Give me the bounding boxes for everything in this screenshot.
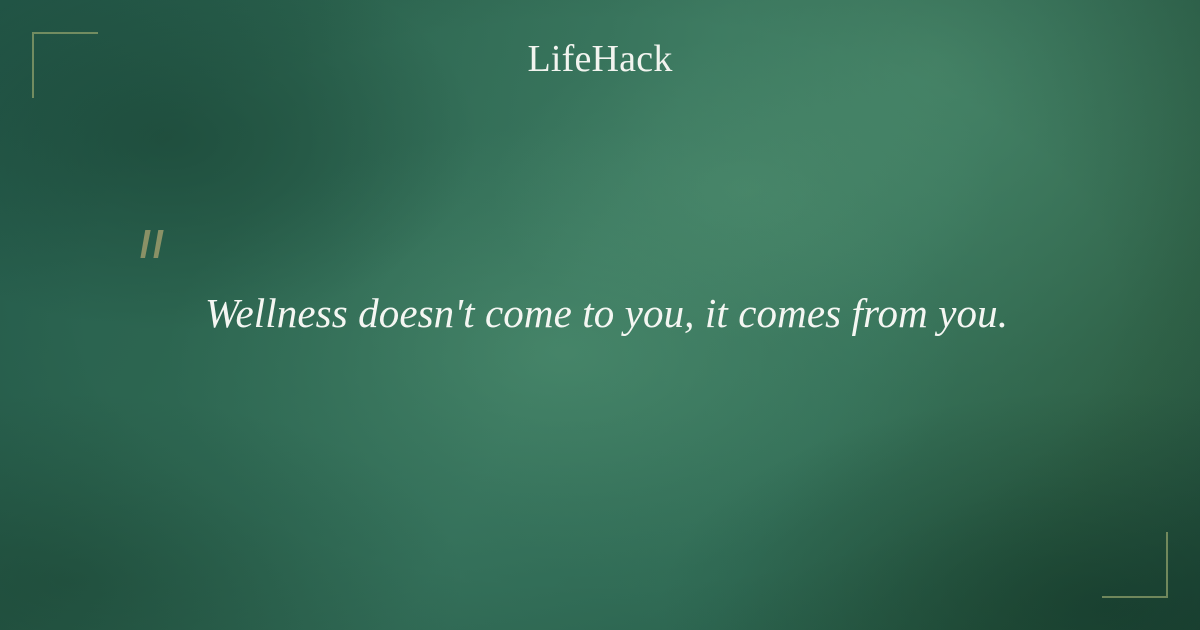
quote-text: Wellness doesn't come to you, it comes f…	[205, 288, 1065, 339]
lifehack-logo: LifeHack	[0, 40, 1200, 80]
quote-mark-icon	[136, 224, 180, 268]
quote-card: LifeHack Wellness doesn't come to you, i…	[0, 0, 1200, 630]
